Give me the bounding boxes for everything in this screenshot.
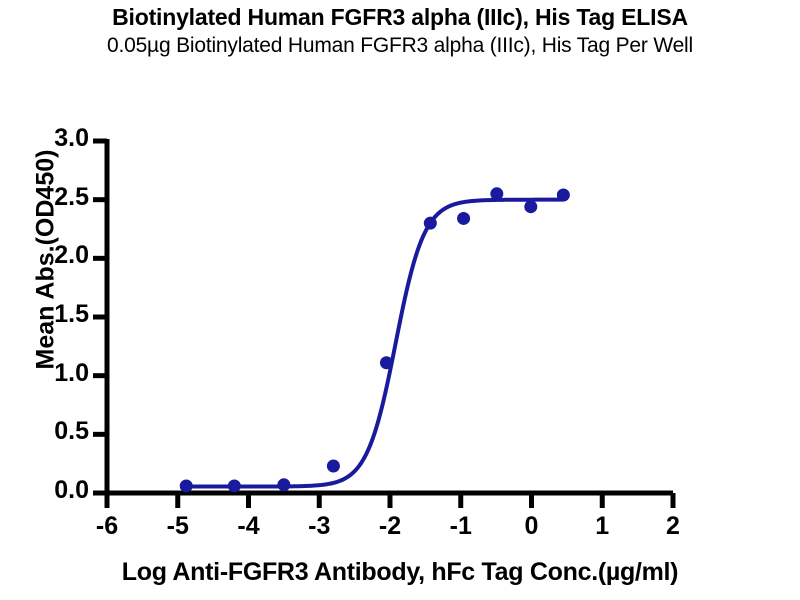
x-axis-tick-label: -4 — [224, 512, 274, 541]
axes — [105, 139, 673, 494]
data-point-marker — [180, 479, 193, 492]
data-point-marker — [490, 187, 503, 200]
data-point-marker — [524, 200, 537, 213]
y-axis-tick-label: 0.0 — [19, 476, 89, 505]
data-points — [180, 187, 570, 492]
x-axis-tick-label: 0 — [507, 512, 557, 541]
data-point-marker — [228, 479, 241, 492]
data-point-marker — [457, 212, 470, 225]
y-axis-tick-label: 2.5 — [19, 183, 89, 212]
data-point-marker — [327, 460, 340, 473]
x-axis-tick-label: -5 — [153, 512, 203, 541]
y-axis-tick-label: 3.0 — [19, 124, 89, 153]
data-point-marker — [557, 188, 570, 201]
data-point-marker — [277, 478, 290, 491]
y-axis-tick-label: 0.5 — [19, 417, 89, 446]
x-axis-tick-label: 2 — [648, 512, 698, 541]
data-point-marker — [424, 217, 437, 230]
x-axis-tick-label: 1 — [577, 512, 627, 541]
data-point-marker — [380, 356, 393, 369]
elisa-chart-figure: Biotinylated Human FGFR3 alpha (IIIc), H… — [0, 0, 800, 600]
sigmoid-fit-curve — [186, 200, 563, 487]
x-axis-tick-label: -1 — [436, 512, 486, 541]
x-axis-tick-label: -2 — [365, 512, 415, 541]
x-axis-tick-label: -6 — [82, 512, 132, 541]
x-axis-tick-label: -3 — [294, 512, 344, 541]
y-axis-tick-label: 1.0 — [19, 359, 89, 388]
plot-area — [0, 0, 800, 600]
y-axis-tick-label: 1.5 — [19, 300, 89, 329]
y-axis-tick-label: 2.0 — [19, 241, 89, 270]
